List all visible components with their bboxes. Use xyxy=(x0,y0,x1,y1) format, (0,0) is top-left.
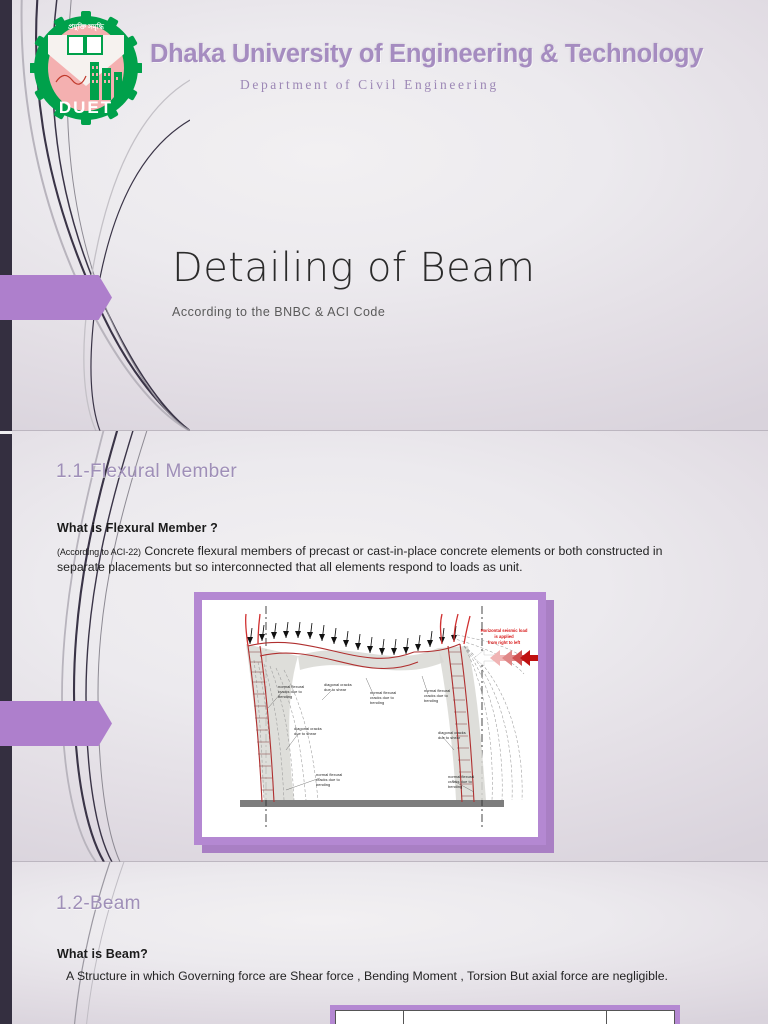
svg-text:bending: bending xyxy=(278,694,292,699)
svg-text:Horizontal seismic load: Horizontal seismic load xyxy=(481,628,528,633)
duet-logo: DUET প্রযুক্তি সমৃদ্ধি xyxy=(30,10,142,132)
purple-arrow-banner-middle xyxy=(0,701,112,746)
department-name: Department of Civil Engineering xyxy=(240,77,499,93)
body-paragraph-flexural: (According to ACI-22) Concrete flexural … xyxy=(57,543,712,575)
svg-text:from right to left: from right to left xyxy=(488,640,521,645)
slide-beam: 1.2-Beam What is Beam? A Structure in wh… xyxy=(0,862,768,1024)
table-row xyxy=(336,1011,675,1024)
table-grid xyxy=(335,1010,675,1024)
svg-text:is applied: is applied xyxy=(494,634,514,639)
slide-divider-2 xyxy=(12,861,768,862)
swirl-decoration xyxy=(0,862,190,1024)
svg-text:due to shear: due to shear xyxy=(294,731,317,736)
figure-image: Horizontal seismic load is applied from … xyxy=(202,600,538,837)
body-text-beam: A Structure in which Governing force are… xyxy=(66,969,668,983)
university-name: Dhaka University of Engineering & Techno… xyxy=(150,40,703,69)
purple-arrow-banner-top xyxy=(0,275,112,320)
beam-classification-table[interactable] xyxy=(330,1005,680,1024)
page-subtitle: According to the BNBC & ACI Code xyxy=(172,305,385,319)
svg-text:bending: bending xyxy=(316,782,330,787)
slide-flexural-member: 1.1-Flexural Member What is Flexural Mem… xyxy=(0,431,768,862)
left-rail xyxy=(0,431,12,862)
body-paragraph-beam: A Structure in which Governing force are… xyxy=(66,968,716,984)
body-text-flexural: Concrete flexural members of precast or … xyxy=(57,544,662,574)
slide-title: DUET প্রযুক্তি সমৃদ্ধি Dhaka University … xyxy=(0,0,768,431)
svg-text:due to shear: due to shear xyxy=(438,735,461,740)
slide-divider-1 xyxy=(12,430,768,431)
section-heading-1-2: 1.2-Beam xyxy=(56,893,141,915)
citation-aci: (According to ACI-22) xyxy=(57,547,141,557)
section-heading-1-1: 1.1-Flexural Member xyxy=(56,461,237,483)
question-heading-flexural: What is Flexural Member ? xyxy=(57,521,218,535)
table-cell xyxy=(607,1011,675,1024)
figure-frame[interactable]: Horizontal seismic load is applied from … xyxy=(194,592,546,845)
svg-text:bending: bending xyxy=(448,784,462,789)
left-rail xyxy=(0,0,12,431)
svg-text:bending: bending xyxy=(370,700,384,705)
left-rail xyxy=(0,862,12,1024)
svg-text:due to shear: due to shear xyxy=(324,687,347,692)
svg-text:bending: bending xyxy=(424,698,438,703)
duet-logo-motto: প্রযুক্তি সমৃদ্ধি xyxy=(68,22,105,32)
frame-crack-pattern-diagram: Horizontal seismic load is applied from … xyxy=(202,600,538,837)
table-cell xyxy=(336,1011,404,1024)
duet-logo-label: DUET xyxy=(59,98,113,117)
document-page: DUET প্রযুক্তি সমৃদ্ধি Dhaka University … xyxy=(0,0,768,1024)
swirl-decoration xyxy=(0,431,190,862)
table-cell xyxy=(403,1011,606,1024)
page-title: Detailing of Beam xyxy=(172,245,535,291)
question-heading-beam: What is Beam? xyxy=(57,947,148,961)
